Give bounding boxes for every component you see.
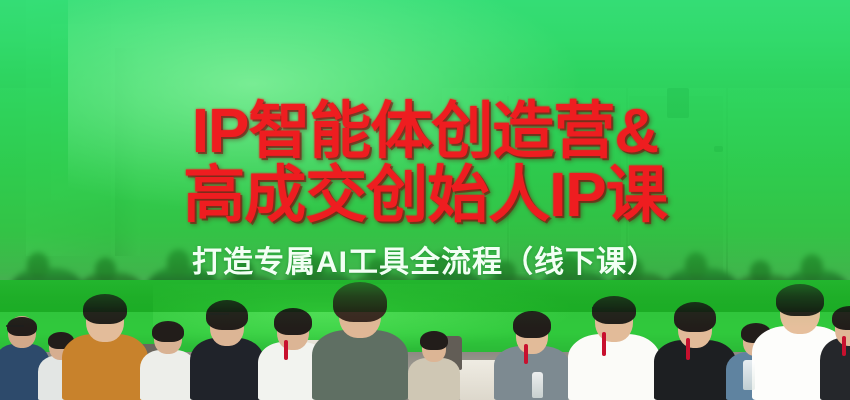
- course-promo-banner: IP智能体创造营& 高成交创始人IP课 打造专属AI工具全流程（线下课）: [0, 0, 850, 400]
- banner-title-line-2: 高成交创始人IP课: [0, 162, 850, 230]
- banner-text-block: IP智能体创造营& 高成交创始人IP课 打造专属AI工具全流程（线下课）: [0, 0, 850, 280]
- banner-subtitle: 打造专属AI工具全流程（线下课）: [0, 246, 850, 280]
- banner-title-line-1: IP智能体创造营&: [0, 98, 850, 166]
